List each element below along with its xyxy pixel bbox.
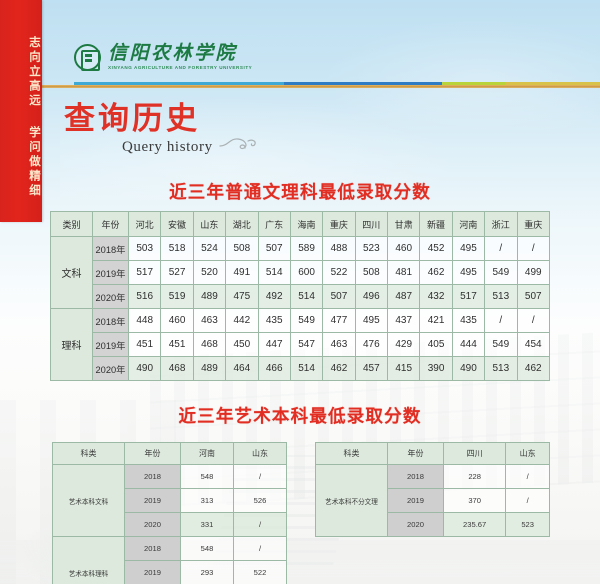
score-cell: 508 xyxy=(355,261,387,285)
score-cell: 514 xyxy=(290,285,322,309)
logo-text-block: 信阳农林学院 XINYANG AGRICULTURE AND FORESTRY … xyxy=(108,44,252,71)
page-title: 查询历史 Query history xyxy=(64,103,213,156)
university-seal-icon xyxy=(74,44,101,71)
score-cell: 460 xyxy=(161,309,193,333)
col-header-year: 年份 xyxy=(93,212,129,237)
col-header-category: 类别 xyxy=(51,212,93,237)
score-cell: 477 xyxy=(323,309,355,333)
cloud-ornament-icon xyxy=(218,130,258,154)
art-right-head: 科类 年份 四川 山东 xyxy=(316,443,550,465)
col-header-shandong: 山东 xyxy=(193,212,225,237)
score-cell: 468 xyxy=(161,357,193,381)
row-year-cell: 2019年 xyxy=(93,333,129,357)
score-cell: / xyxy=(234,537,287,561)
art-scores-table-left: 科类 年份 河南 山东 艺术本科文科2018548/20193135262020… xyxy=(52,442,287,584)
row-year-cell: 2018 xyxy=(125,537,181,561)
col-header-anhui: 安徽 xyxy=(161,212,193,237)
color-bar-segment-blue-light xyxy=(74,82,284,85)
score-cell: 492 xyxy=(258,285,290,309)
score-cell: 600 xyxy=(290,261,322,285)
col-header-year: 年份 xyxy=(388,443,444,465)
col-header-hebei: 河北 xyxy=(129,212,161,237)
score-cell: 415 xyxy=(388,357,420,381)
art-right-body: 艺术本科不分文理2018228/2019370/2020235.67523 xyxy=(316,465,550,537)
col-header-henan: 河南 xyxy=(452,212,484,237)
score-cell: 460 xyxy=(388,237,420,261)
score-cell: 517 xyxy=(129,261,161,285)
score-cell: 405 xyxy=(420,333,452,357)
score-cell: 508 xyxy=(226,237,258,261)
score-cell: 432 xyxy=(420,285,452,309)
score-cell: 490 xyxy=(129,357,161,381)
score-cell: / xyxy=(506,489,550,513)
col-header-chongqing-1: 重庆 xyxy=(323,212,355,237)
score-cell: 390 xyxy=(420,357,452,381)
score-cell: 437 xyxy=(388,309,420,333)
col-header-sichuan: 四川 xyxy=(444,443,506,465)
score-cell: / xyxy=(234,465,287,489)
col-header-guangdong: 广东 xyxy=(258,212,290,237)
score-cell: / xyxy=(234,513,287,537)
score-cell: 513 xyxy=(485,285,517,309)
row-year-cell: 2019年 xyxy=(93,261,129,285)
score-cell: 507 xyxy=(517,285,550,309)
score-cell: 313 xyxy=(181,489,234,513)
col-header-xinjiang: 新疆 xyxy=(420,212,452,237)
score-cell: 495 xyxy=(355,309,387,333)
table-row: 艺术本科文科2018548/ xyxy=(53,465,287,489)
col-header-gansu: 甘肃 xyxy=(388,212,420,237)
row-year-cell: 2020年 xyxy=(93,285,129,309)
row-year-cell: 2018 xyxy=(388,465,444,489)
col-header-subject-type: 科类 xyxy=(316,443,388,465)
score-cell: / xyxy=(485,237,517,261)
score-cell: 495 xyxy=(452,237,484,261)
gold-divider-line xyxy=(0,85,600,88)
color-bar-segment-green xyxy=(442,82,505,85)
logo-color-bar xyxy=(74,82,600,85)
score-cell: 235.67 xyxy=(444,513,506,537)
score-cell: 513 xyxy=(485,357,517,381)
score-cell: / xyxy=(485,309,517,333)
score-cell: 524 xyxy=(193,237,225,261)
score-cell: 457 xyxy=(355,357,387,381)
score-cell: 514 xyxy=(290,357,322,381)
table-row: 艺术本科理科2018548/ xyxy=(53,537,287,561)
color-bar-segment-blue-dark xyxy=(284,82,442,85)
row-year-cell: 2020 xyxy=(388,513,444,537)
score-cell: 526 xyxy=(234,489,287,513)
score-cell: 516 xyxy=(129,285,161,309)
score-cell: 462 xyxy=(420,261,452,285)
score-cell: 520 xyxy=(193,261,225,285)
score-cell: 507 xyxy=(323,285,355,309)
score-cell: 549 xyxy=(290,309,322,333)
row-year-cell: 2020年 xyxy=(93,357,129,381)
score-cell: 451 xyxy=(161,333,193,357)
motto-line-2: 学问做精细 xyxy=(0,122,42,202)
table-row: 艺术本科不分文理2018228/ xyxy=(316,465,550,489)
art-left-body: 艺术本科文科2018548/20193135262020331/艺术本科理科20… xyxy=(53,465,287,584)
table-header-row: 科类 年份 四川 山东 xyxy=(316,443,550,465)
score-cell: 442 xyxy=(226,309,258,333)
row-year-cell: 2018年 xyxy=(93,309,129,333)
row-year-cell: 2019 xyxy=(125,561,181,584)
table-row: 理科2018年448460463442435549477495437421435… xyxy=(51,309,550,333)
section-heading-art: 近三年艺术本科最低录取分数 xyxy=(0,403,600,428)
score-cell: 481 xyxy=(388,261,420,285)
row-year-cell: 2019 xyxy=(125,489,181,513)
score-cell: 462 xyxy=(323,357,355,381)
motto-line-1: 志向立高远 xyxy=(0,32,42,112)
score-cell: 429 xyxy=(388,333,420,357)
university-name-en: XINYANG AGRICULTURE AND FORESTRY UNIVERS… xyxy=(108,66,252,71)
general-scores-table: 类别 年份 河北 安徽 山东 湖北 广东 海南 重庆 四川 甘肃 新疆 河南 浙… xyxy=(50,211,550,381)
motto-banner: 志向立高远 学问做精细 xyxy=(0,0,42,222)
poster-page: 志向立高远 学问做精细 信阳农林学院 XINYANG AGRICULTURE A… xyxy=(0,0,600,584)
row-year-cell: 2018年 xyxy=(93,237,129,261)
row-category-cell: 文科 xyxy=(51,237,93,309)
score-cell: 549 xyxy=(485,261,517,285)
score-cell: 489 xyxy=(193,285,225,309)
page-title-en: Query history xyxy=(122,139,213,156)
score-cell: 547 xyxy=(290,333,322,357)
score-cell: 548 xyxy=(181,537,234,561)
score-cell: 331 xyxy=(181,513,234,537)
score-cell: 503 xyxy=(129,237,161,261)
table-header-row: 科类 年份 河南 山东 xyxy=(53,443,287,465)
score-cell: 454 xyxy=(517,333,550,357)
row-category-cell: 艺术本科理科 xyxy=(53,537,125,584)
col-header-subject-type: 科类 xyxy=(53,443,125,465)
score-cell: 522 xyxy=(323,261,355,285)
col-header-zhejiang: 浙江 xyxy=(485,212,517,237)
score-cell: 452 xyxy=(420,237,452,261)
score-cell: 447 xyxy=(258,333,290,357)
page-title-cn: 查询历史 xyxy=(64,103,213,136)
col-header-hubei: 湖北 xyxy=(226,212,258,237)
col-header-chongqing-2: 重庆 xyxy=(517,212,550,237)
score-cell: 450 xyxy=(226,333,258,357)
score-cell: 444 xyxy=(452,333,484,357)
score-cell: 463 xyxy=(323,333,355,357)
score-cell: 589 xyxy=(290,237,322,261)
general-scores-table-head: 类别 年份 河北 安徽 山东 湖北 广东 海南 重庆 四川 甘肃 新疆 河南 浙… xyxy=(51,212,550,237)
score-cell: 495 xyxy=(452,261,484,285)
section-heading-general: 近三年普通文理科最低录取分数 xyxy=(0,179,600,204)
score-cell: / xyxy=(506,465,550,489)
col-header-shandong: 山东 xyxy=(234,443,287,465)
score-cell: 491 xyxy=(226,261,258,285)
university-logo: 信阳农林学院 XINYANG AGRICULTURE AND FORESTRY … xyxy=(74,44,252,71)
score-cell: 476 xyxy=(355,333,387,357)
row-category-cell: 艺术本科文科 xyxy=(53,465,125,537)
table-row: 文科2018年503518524508507589488523460452495… xyxy=(51,237,550,261)
col-header-sichuan: 四川 xyxy=(355,212,387,237)
score-cell: 517 xyxy=(452,285,484,309)
score-cell: 468 xyxy=(193,333,225,357)
table-header-row: 类别 年份 河北 安徽 山东 湖北 广东 海南 重庆 四川 甘肃 新疆 河南 浙… xyxy=(51,212,550,237)
score-cell: 421 xyxy=(420,309,452,333)
score-cell: 523 xyxy=(506,513,550,537)
score-cell: 499 xyxy=(517,261,550,285)
score-cell: 451 xyxy=(129,333,161,357)
score-cell: 507 xyxy=(258,237,290,261)
score-cell: 462 xyxy=(517,357,550,381)
score-cell: 448 xyxy=(129,309,161,333)
score-cell: 370 xyxy=(444,489,506,513)
score-cell: 490 xyxy=(452,357,484,381)
color-bar-segment-yellow xyxy=(505,82,600,85)
score-cell: 548 xyxy=(181,465,234,489)
score-cell: 549 xyxy=(485,333,517,357)
row-category-cell: 理科 xyxy=(51,309,93,381)
score-cell: 519 xyxy=(161,285,193,309)
table-row: 2019年45145146845044754746347642940544454… xyxy=(51,333,550,357)
score-cell: 489 xyxy=(193,357,225,381)
table-row: 2020年49046848946446651446245741539049051… xyxy=(51,357,550,381)
score-cell: / xyxy=(517,237,550,261)
col-header-year: 年份 xyxy=(125,443,181,465)
table-row: 2020年51651948947549251450749648743251751… xyxy=(51,285,550,309)
art-left-head: 科类 年份 河南 山东 xyxy=(53,443,287,465)
score-cell: 523 xyxy=(355,237,387,261)
score-cell: 514 xyxy=(258,261,290,285)
score-cell: 527 xyxy=(161,261,193,285)
table-row: 2019年51752752049151460052250848146249554… xyxy=(51,261,550,285)
score-cell: 435 xyxy=(452,309,484,333)
general-scores-table-body: 文科2018年503518524508507589488523460452495… xyxy=(51,237,550,381)
row-year-cell: 2020 xyxy=(125,513,181,537)
col-header-henan: 河南 xyxy=(181,443,234,465)
row-year-cell: 2019 xyxy=(388,489,444,513)
score-cell: 475 xyxy=(226,285,258,309)
score-cell: 487 xyxy=(388,285,420,309)
col-header-hainan: 海南 xyxy=(290,212,322,237)
score-cell: 228 xyxy=(444,465,506,489)
col-header-shandong: 山东 xyxy=(506,443,550,465)
row-year-cell: 2018 xyxy=(125,465,181,489)
score-cell: 488 xyxy=(323,237,355,261)
score-cell: 466 xyxy=(258,357,290,381)
score-cell: 522 xyxy=(234,561,287,584)
score-cell: 464 xyxy=(226,357,258,381)
score-cell: 435 xyxy=(258,309,290,333)
art-scores-table-right: 科类 年份 四川 山东 艺术本科不分文理2018228/2019370/2020… xyxy=(315,442,550,537)
score-cell: 496 xyxy=(355,285,387,309)
university-name-cn: 信阳农林学院 xyxy=(108,44,252,63)
score-cell: / xyxy=(517,309,550,333)
score-cell: 518 xyxy=(161,237,193,261)
score-cell: 463 xyxy=(193,309,225,333)
score-cell: 293 xyxy=(181,561,234,584)
row-category-cell: 艺术本科不分文理 xyxy=(316,465,388,537)
